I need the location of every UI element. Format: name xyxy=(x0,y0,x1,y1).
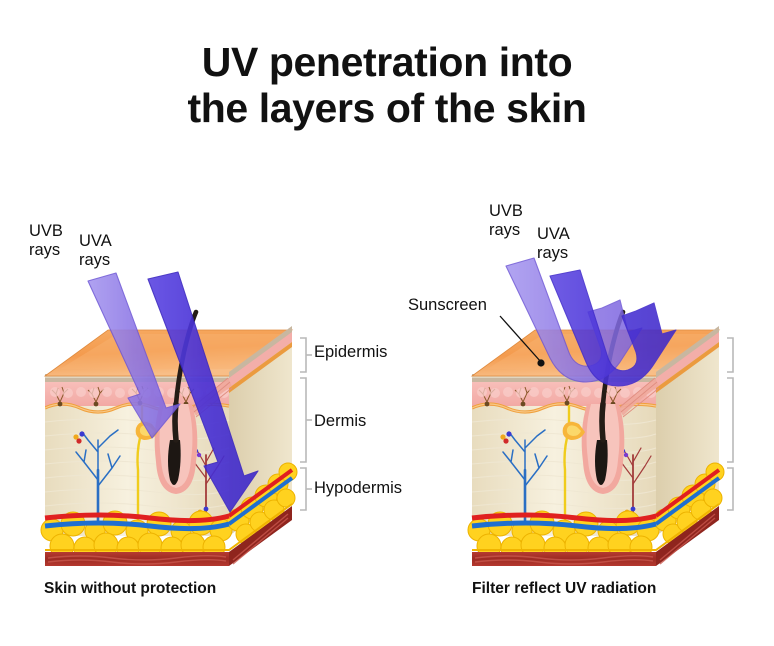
label-sunscreen: Sunscreen xyxy=(408,296,487,315)
label-uvb-rays-left: UVB rays xyxy=(29,222,63,261)
label-dermis: Dermis xyxy=(314,412,366,431)
skin-diagram-svg xyxy=(0,0,774,646)
skin-block-right xyxy=(468,258,733,566)
skin-block-left xyxy=(41,272,312,566)
layer-brackets-left xyxy=(300,338,312,510)
label-hypodermis: Hypodermis xyxy=(314,479,402,498)
label-epidermis: Epidermis xyxy=(314,343,387,362)
label-uva-rays-left: UVA rays xyxy=(79,232,112,271)
layer-brackets-right xyxy=(727,338,733,510)
label-uva-rays-right: UVA rays xyxy=(537,225,570,264)
caption-left-panel: Skin without protection xyxy=(44,580,216,598)
caption-right-panel: Filter reflect UV radiation xyxy=(472,580,656,598)
label-uvb-rays-right: UVB rays xyxy=(489,202,523,241)
illustration-canvas: UV penetration into the layers of the sk… xyxy=(0,0,774,646)
